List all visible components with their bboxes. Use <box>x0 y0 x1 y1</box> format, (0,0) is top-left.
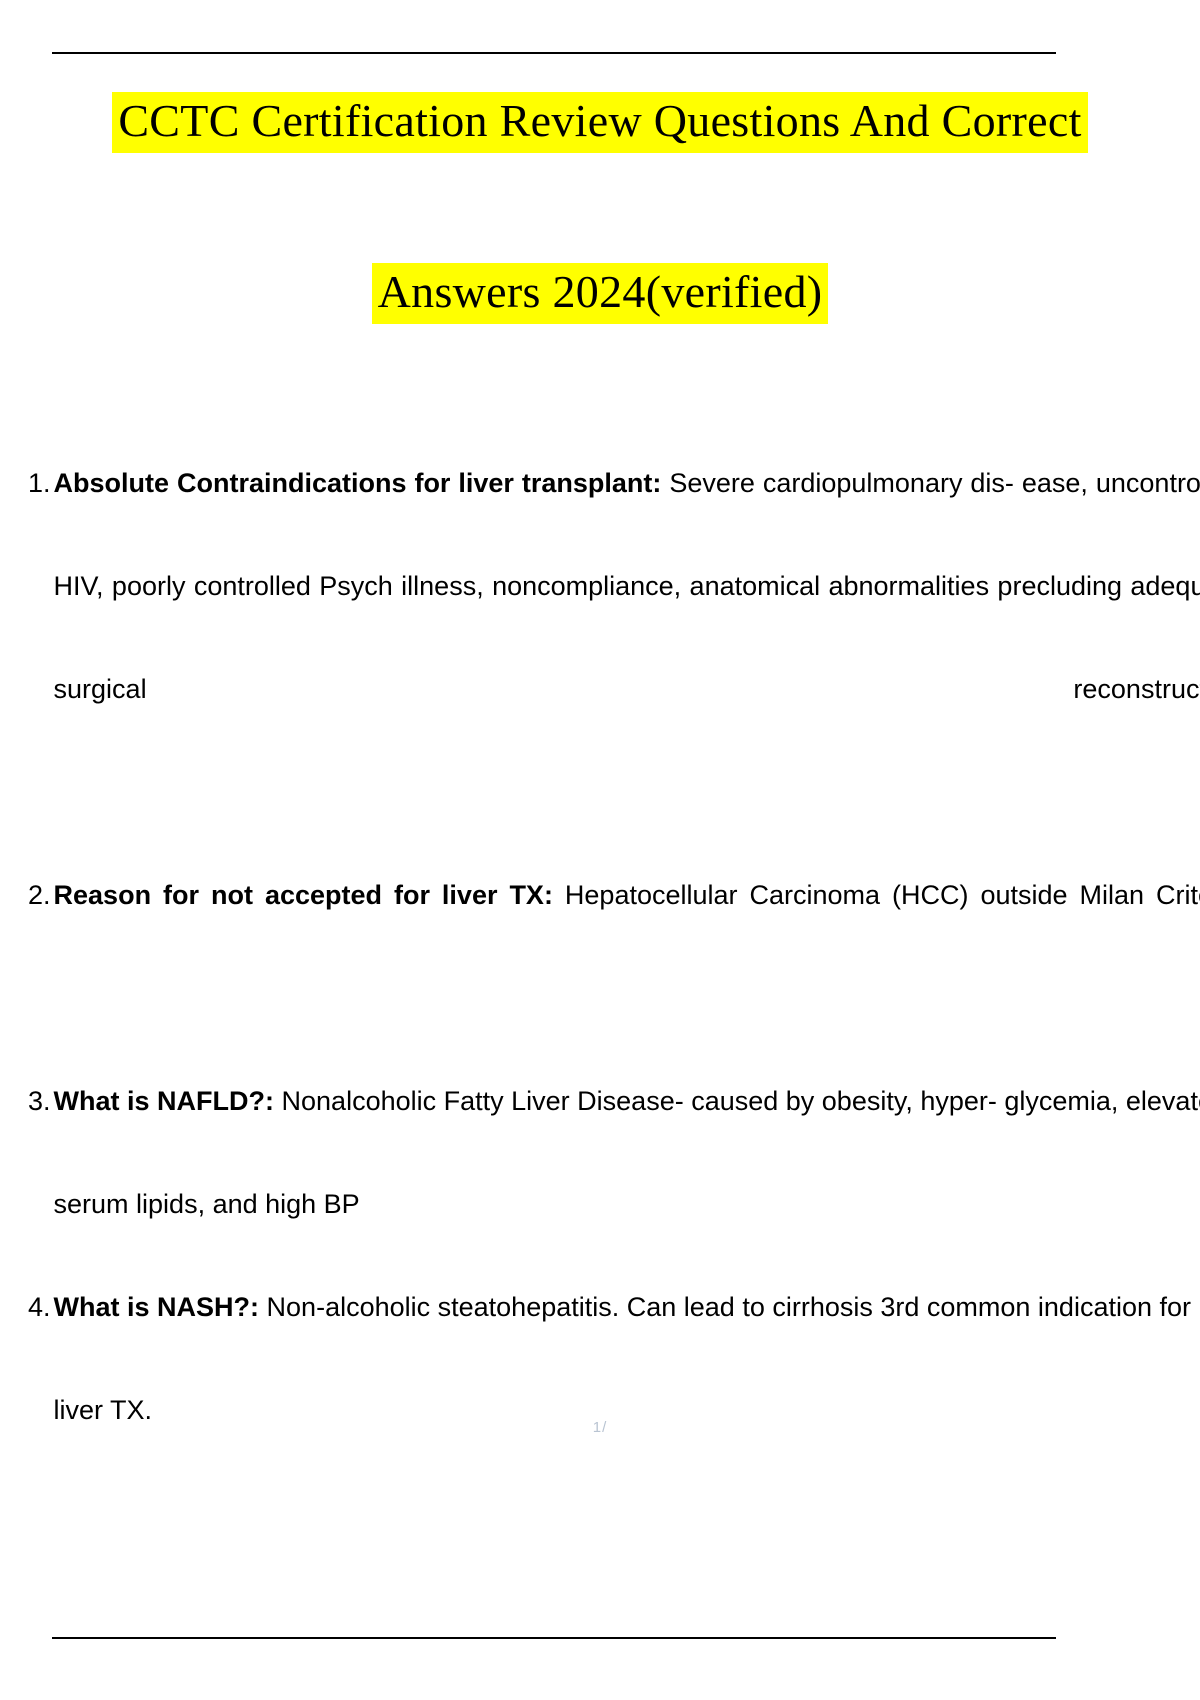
item-number: 3. <box>28 1050 54 1153</box>
list-item: 3. What is NAFLD?: Nonalcoholic Fatty Li… <box>28 1050 1200 1256</box>
title-highlight-2: Answers 2024(verified) <box>372 263 829 324</box>
page-number-marker: 1/ <box>0 1419 1200 1436</box>
item-question: What is NASH?: <box>54 1292 260 1322</box>
item-text: Absolute Contraindications for liver tra… <box>54 432 1200 844</box>
title-highlight-1: CCTC Certification Review Questions And … <box>112 92 1087 153</box>
header-rule <box>52 52 1056 54</box>
item-answer: Severe cardiopulmonary dis- ease, uncont… <box>54 468 1200 704</box>
item-question: Reason for not accepted for liver TX: <box>54 880 553 910</box>
item-text: Reason for not accepted for liver TX: He… <box>54 844 1200 1050</box>
document-page: CCTC Certification Review Questions And … <box>0 0 1200 1700</box>
list-item: 1. Absolute Contraindications for liver … <box>28 432 1200 844</box>
item-answer: Hepatocellular Carcinoma (HCC) outside M… <box>565 880 1200 910</box>
title-line-1: CCTC Certification Review Questions And … <box>0 92 1200 153</box>
document-title: CCTC Certification Review Questions And … <box>0 92 1200 324</box>
item-question: What is NAFLD?: <box>54 1086 274 1116</box>
qa-list: 1. Absolute Contraindications for liver … <box>28 432 1200 1462</box>
item-question: Absolute Contraindications for liver tra… <box>54 468 662 498</box>
item-number: 1. <box>28 432 54 535</box>
item-text: What is NAFLD?: Nonalcoholic Fatty Liver… <box>54 1050 1200 1256</box>
item-number: 4. <box>28 1256 54 1359</box>
title-line-2: Answers 2024(verified) <box>0 263 1200 324</box>
item-number: 2. <box>28 844 54 947</box>
footer-rule <box>52 1637 1056 1639</box>
list-item: 2. Reason for not accepted for liver TX:… <box>28 844 1200 1050</box>
